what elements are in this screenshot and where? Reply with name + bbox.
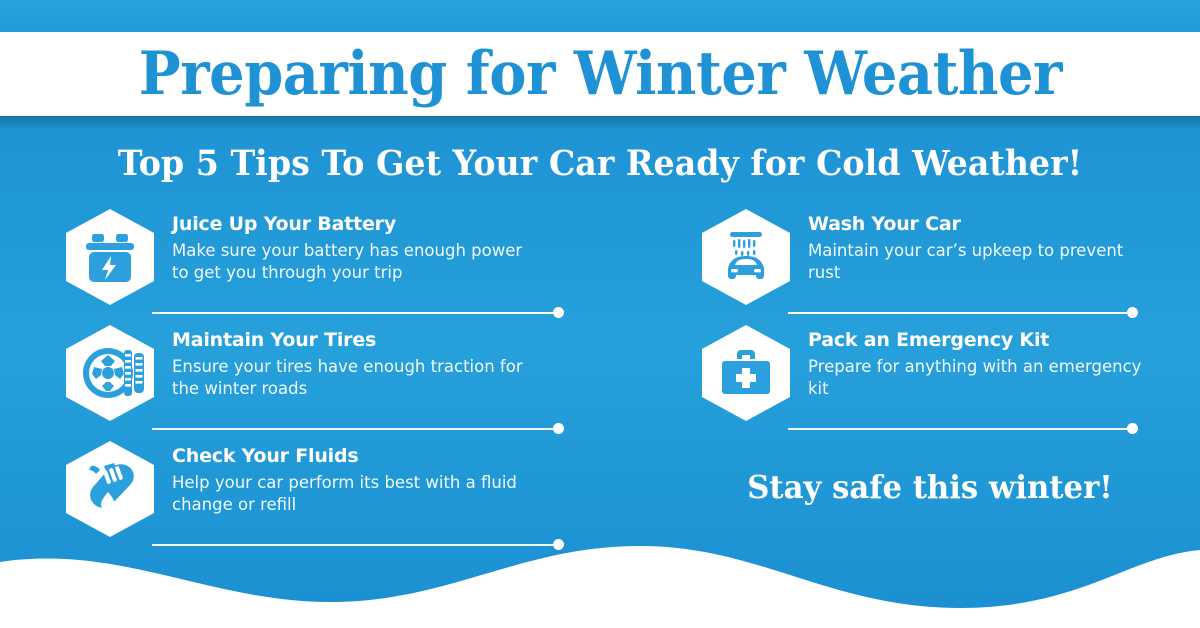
tip-text: Pack an Emergency Kit Prepare for anythi…	[808, 330, 1160, 401]
divider-dot	[553, 307, 564, 318]
divider-line	[152, 312, 553, 314]
tip-item: Juice Up Your Battery Make sure your bat…	[64, 208, 524, 324]
tip-item: Maintain Your Tires Ensure your tires ha…	[64, 324, 524, 440]
tip-title: Check Your Fluids	[172, 446, 524, 468]
tip-text: Wash Your Car Maintain your car’s upkeep…	[808, 214, 1160, 285]
divider-line	[788, 312, 1127, 314]
divider-line	[152, 428, 553, 430]
tip-text: Maintain Your Tires Ensure your tires ha…	[172, 330, 524, 401]
title-band: Preparing for Winter Weather	[0, 32, 1200, 116]
tip-description: Help your car perform its best with a fl…	[172, 472, 524, 517]
tip-title: Pack an Emergency Kit	[808, 330, 1160, 352]
divider-dot	[1127, 423, 1138, 434]
closing-message: Stay safe this winter!	[709, 468, 1151, 506]
page-title: Preparing for Winter Weather	[138, 39, 1061, 109]
tips-column-left: Juice Up Your Battery Make sure your bat…	[64, 208, 524, 556]
tire-icon	[64, 324, 156, 422]
tip-text: Juice Up Your Battery Make sure your bat…	[172, 214, 524, 285]
tip-title: Wash Your Car	[808, 214, 1160, 236]
tip-description: Prepare for anything with an emergency k…	[808, 356, 1160, 401]
subtitle: Top 5 Tips To Get Your Car Ready for Col…	[30, 143, 1170, 184]
tip-description: Maintain your car’s upkeep to prevent ru…	[808, 240, 1160, 285]
infographic-poster: Preparing for Winter Weather Top 5 Tips …	[0, 0, 1200, 628]
divider-line	[788, 428, 1127, 430]
tip-description: Make sure your battery has enough power …	[172, 240, 524, 285]
tip-divider	[152, 423, 564, 434]
tip-text: Check Your Fluids Help your car perform …	[172, 446, 524, 517]
tip-title: Maintain Your Tires	[172, 330, 524, 352]
top-blue-strip	[0, 0, 1200, 32]
tip-title: Juice Up Your Battery	[172, 214, 524, 236]
car-wash-icon	[700, 208, 792, 306]
first-aid-kit-icon	[700, 324, 792, 422]
tip-item: Wash Your Car Maintain your car’s upkeep…	[700, 208, 1160, 324]
car-battery-icon	[64, 208, 156, 306]
tips-column-right: Wash Your Car Maintain your car’s upkeep…	[700, 208, 1160, 440]
wave-decoration	[0, 518, 1200, 628]
divider-dot	[1127, 307, 1138, 318]
tip-divider	[152, 307, 564, 318]
tip-item: Pack an Emergency Kit Prepare for anythi…	[700, 324, 1160, 440]
tip-divider	[788, 307, 1138, 318]
tip-divider	[788, 423, 1138, 434]
tip-description: Ensure your tires have enough traction f…	[172, 356, 524, 401]
divider-dot	[553, 423, 564, 434]
